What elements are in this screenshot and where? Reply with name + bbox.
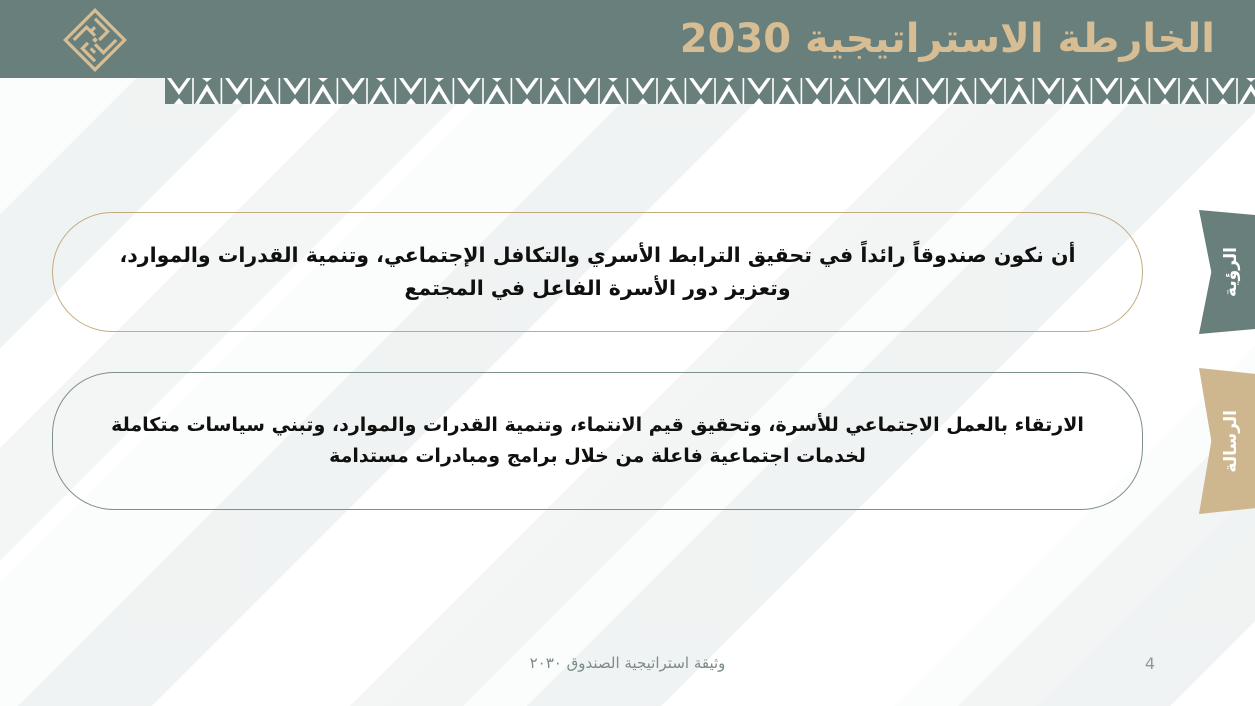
mission-tab-label: الرسالة bbox=[1213, 410, 1241, 473]
slide-header-bar: الخارطة الاستراتيجية 2030 bbox=[0, 0, 1255, 78]
vision-tab-label: الرؤية bbox=[1213, 247, 1241, 297]
vision-block: أن نكون صندوقاً رائداً في تحقيق الترابط … bbox=[0, 212, 1255, 332]
mission-statement-text: الارتقاء بالعمل الاجتماعي للأسرة، وتحقيق… bbox=[99, 410, 1096, 472]
vision-statement-box: أن نكون صندوقاً رائداً في تحقيق الترابط … bbox=[52, 212, 1143, 332]
page-title: الخارطة الاستراتيجية 2030 bbox=[0, 10, 1215, 68]
footer-document-label: وثيقة استراتيجية الصندوق ٢٠٣٠ bbox=[0, 654, 1255, 672]
vision-tab[interactable]: الرؤية bbox=[1199, 210, 1255, 334]
mission-block: الارتقاء بالعمل الاجتماعي للأسرة، وتحقيق… bbox=[0, 372, 1255, 510]
mission-statement-box: الارتقاء بالعمل الاجتماعي للأسرة، وتحقيق… bbox=[52, 372, 1143, 510]
vision-statement-text: أن نكون صندوقاً رائداً في تحقيق الترابط … bbox=[99, 239, 1096, 305]
footer-page-number: 4 bbox=[1120, 654, 1180, 673]
mission-tab[interactable]: الرسالة bbox=[1199, 368, 1255, 514]
slide-content: أن نكون صندوقاً رائداً في تحقيق الترابط … bbox=[0, 104, 1255, 644]
slide-footer: وثيقة استراتيجية الصندوق ٢٠٣٠ 4 bbox=[0, 644, 1255, 706]
chevron-zigzag-pattern-icon bbox=[165, 78, 1255, 104]
slide-canvas: الخارطة الاستراتيجية 2030 أن bbox=[0, 0, 1255, 706]
